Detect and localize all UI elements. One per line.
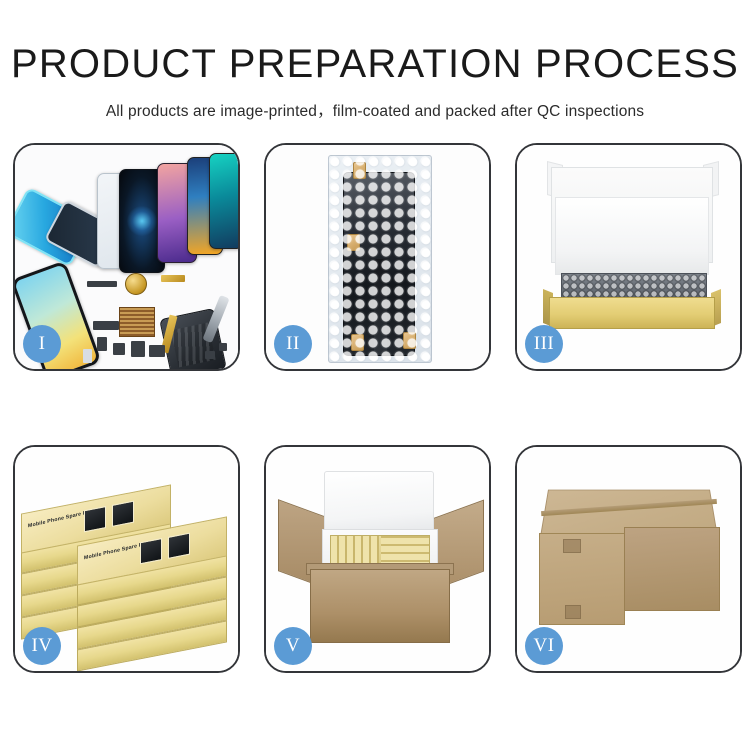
step-badge-6: VI (525, 627, 563, 665)
step-card-6[interactable]: VI (515, 445, 742, 673)
box-window (168, 533, 190, 559)
tape-piece (351, 334, 364, 351)
box-window (84, 506, 106, 532)
step-card-5[interactable]: V (264, 445, 491, 673)
small-part (149, 345, 165, 357)
carton-left-panel (539, 533, 625, 625)
small-part (205, 351, 215, 359)
header: PRODUCT PREPARATION PROCESS All products… (0, 0, 750, 121)
bubble-wrap-layer (561, 273, 707, 299)
page-title: PRODUCT PREPARATION PROCESS (0, 44, 750, 84)
chip-array-part (119, 307, 155, 337)
process-step-grid: I II (13, 143, 742, 675)
step-badge-5: V (274, 627, 312, 665)
box-front-panel (549, 297, 715, 329)
small-part (97, 337, 107, 351)
step-badge-1: I (23, 325, 61, 363)
carton-body (310, 569, 450, 643)
small-part (83, 349, 92, 363)
small-part (131, 341, 145, 357)
tape-piece (403, 332, 416, 349)
step-badge-2: II (274, 325, 312, 363)
step-card-1[interactable]: I (13, 143, 240, 371)
box-window (112, 501, 134, 527)
small-part (93, 321, 119, 330)
phone-display-teal (209, 153, 238, 249)
box-window (140, 538, 162, 564)
tape-piece (347, 234, 360, 251)
small-part (161, 275, 185, 282)
small-part (113, 343, 125, 355)
step-badge-3: III (525, 325, 563, 363)
step-card-4[interactable]: Mobile Phone Spare Parts Mobile Phone Sp… (13, 445, 240, 673)
small-part (219, 343, 227, 351)
foam-sheet (555, 197, 709, 275)
carton-tape (563, 539, 581, 553)
tape-piece (353, 162, 366, 179)
step-card-3[interactable]: III (515, 143, 742, 371)
small-part (87, 281, 117, 287)
carton-right-panel (624, 527, 720, 611)
bubble-wrap-bag (328, 155, 432, 363)
product-preparation-infographic: PRODUCT PREPARATION PROCESS All products… (0, 0, 750, 750)
flex-cable-part (374, 259, 387, 355)
carton-tape (565, 605, 581, 619)
page-subtitle: All products are image-printed，film-coat… (0, 99, 750, 121)
speaker-part-icon (125, 273, 147, 295)
step-badge-4: IV (23, 627, 61, 665)
step-card-2[interactable]: II (264, 143, 491, 371)
foam-box-lid (324, 471, 434, 533)
phone-screen-wrapped (343, 172, 415, 356)
